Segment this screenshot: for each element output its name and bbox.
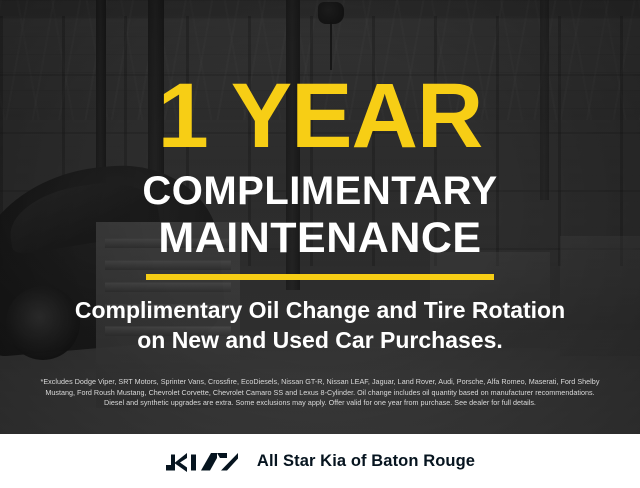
yellow-divider-rule xyxy=(146,274,494,280)
kia-logo-icon xyxy=(165,450,239,472)
promotional-banner: 1 YEAR COMPLIMENTARY MAINTENANCE Complim… xyxy=(0,0,640,488)
dealer-name: All Star Kia of Baton Rouge xyxy=(257,452,475,471)
subheadline-line-2: on New and Used Car Purchases. xyxy=(75,326,565,356)
banner-content: 1 YEAR COMPLIMENTARY MAINTENANCE Complim… xyxy=(0,0,640,488)
disclaimer-line-1: *Excludes Dodge Viper, SRT Motors, Sprin… xyxy=(13,377,627,388)
disclaimer-line-2: Mustang, Ford Roush Mustang, Chevrolet C… xyxy=(13,388,627,399)
disclaimer-line-3: Diesel and synthetic upgrades are extra.… xyxy=(13,398,627,409)
footer-bar: All Star Kia of Baton Rouge xyxy=(0,434,640,488)
headline-line-2: COMPLIMENTARY xyxy=(142,171,497,211)
headline-line-3: MAINTENANCE xyxy=(158,217,481,260)
headline-line-1: 1 YEAR xyxy=(158,74,483,159)
subheadline: Complimentary Oil Change and Tire Rotati… xyxy=(75,296,565,356)
subheadline-line-1: Complimentary Oil Change and Tire Rotati… xyxy=(75,296,565,326)
disclaimer-text: *Excludes Dodge Viper, SRT Motors, Sprin… xyxy=(13,377,627,409)
